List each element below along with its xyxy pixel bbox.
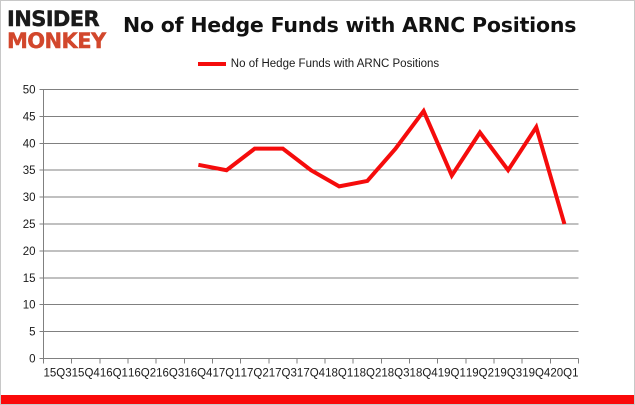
y-axis-tick-label: 25 (23, 219, 36, 231)
y-axis-tick-label: 15 (23, 273, 36, 285)
footer-accent-bar (1, 395, 635, 404)
x-axis-tick-label: 16Q2 (128, 368, 156, 380)
chart-page: INSIDER MONKEY No of Hedge Funds with AR… (0, 0, 635, 405)
data-series-line (198, 111, 564, 224)
x-axis-tick-label: 15Q4 (72, 368, 101, 380)
y-axis-tick-label: 50 (23, 85, 36, 97)
x-axis-tick-label: 20Q1 (550, 368, 578, 380)
x-axis-tick-label: 19Q1 (438, 368, 466, 380)
chart-svg: 05101520253035404550 15Q315Q416Q116Q216Q… (1, 1, 635, 405)
x-axis-tick-label: 15Q3 (44, 368, 72, 380)
gridlines-group (40, 90, 579, 359)
x-axis-tick-label: 19Q3 (494, 368, 522, 380)
x-axis-tick-label: 17Q1 (212, 368, 240, 380)
x-axis-tick-label: 17Q3 (269, 368, 297, 380)
y-axis-tick-label: 30 (23, 192, 36, 204)
y-axis-tick-label: 40 (23, 138, 36, 150)
x-axis-tick-label: 16Q3 (156, 368, 184, 380)
x-axis-tick-label: 17Q4 (297, 368, 326, 380)
series-polyline (198, 111, 564, 224)
x-axis-tick-labels: 15Q315Q416Q116Q216Q316Q417Q117Q217Q317Q4… (44, 368, 579, 380)
x-axis-tick-label: 19Q4 (522, 368, 551, 380)
x-axis-tick-label: 18Q1 (325, 368, 353, 380)
y-axis-tick-labels: 05101520253035404550 (23, 85, 36, 366)
x-axis-tick-label: 18Q3 (381, 368, 409, 380)
x-axis-tick-label: 18Q2 (353, 368, 381, 380)
y-axis-tick-label: 45 (23, 111, 36, 123)
x-axis-tick-label: 19Q2 (466, 368, 494, 380)
y-axis-tick-label: 20 (23, 246, 36, 258)
y-axis-tick-label: 0 (29, 354, 35, 366)
x-axis-tick-label: 17Q2 (241, 368, 269, 380)
x-axis-tick-label: 18Q4 (410, 368, 439, 380)
x-axis-tick-label: 16Q1 (100, 368, 128, 380)
y-axis-tick-label: 10 (23, 300, 36, 312)
y-axis-tick-label: 5 (29, 327, 35, 339)
plot-area: 05101520253035404550 15Q315Q416Q116Q216Q… (1, 1, 635, 405)
x-axis-tick-label: 16Q4 (184, 368, 213, 380)
y-axis-tick-label: 35 (23, 165, 36, 177)
x-axis-ticks (44, 359, 579, 364)
